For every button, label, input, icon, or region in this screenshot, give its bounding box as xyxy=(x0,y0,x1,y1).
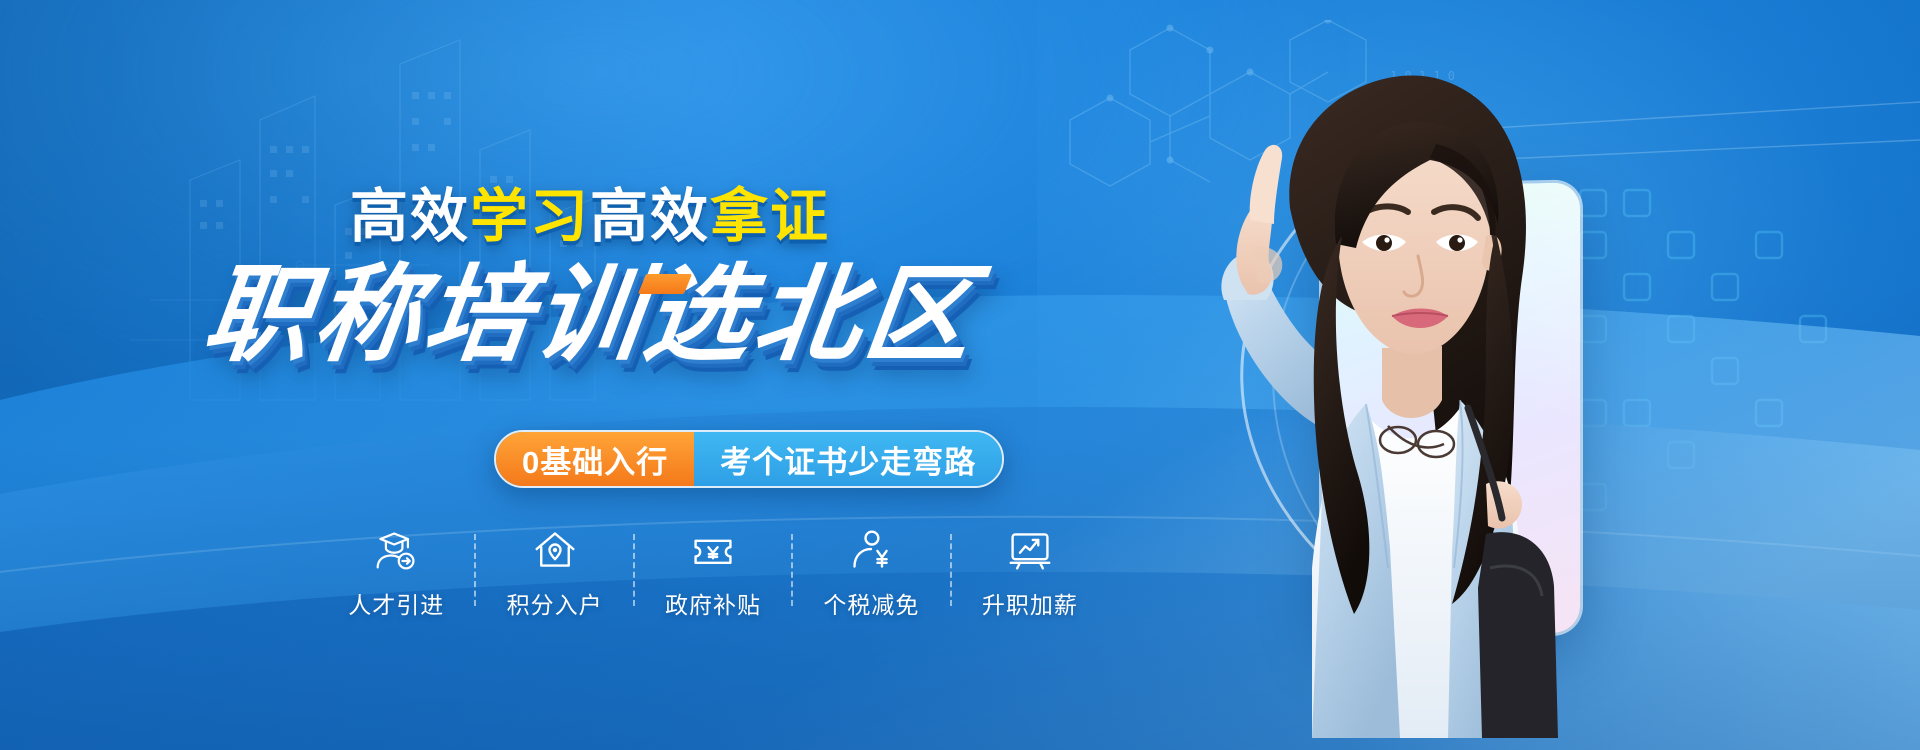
feature-label: 个税减免 xyxy=(823,586,919,620)
feature-item-talent-introduction[interactable]: 人才引进 xyxy=(318,528,474,620)
headline-char-6: 区 xyxy=(858,262,981,368)
growth-chart-board-icon xyxy=(1008,528,1052,572)
main-headline: 职称培训选北区 xyxy=(0,262,1180,368)
feature-label: 升职加薪 xyxy=(982,586,1078,620)
feature-item-points-residency[interactable]: 积分入户 xyxy=(476,528,632,620)
headline-char-1: 称 xyxy=(308,262,431,368)
subhead-seg-4: 拿证 xyxy=(710,184,830,249)
headline-char-3: 训 xyxy=(528,262,651,368)
voucher-yuan-icon xyxy=(691,528,735,572)
headline-char-2: 培 xyxy=(418,262,541,368)
feature-item-tax-reduction[interactable]: 个税减免 xyxy=(793,528,949,620)
tagline-pill-right[interactable]: 考个证书少走弯路 xyxy=(694,432,1002,486)
subhead-seg-1: 高效 xyxy=(350,184,470,249)
house-pin-icon xyxy=(533,528,577,572)
feature-item-government-subsidy[interactable]: 政府补贴 xyxy=(635,528,791,620)
sub-headline: 高效学习高效拿证 xyxy=(0,188,1180,246)
feature-label: 政府补贴 xyxy=(665,586,761,620)
content-block: 高效学习高效拿证 职称培训选北区 0基础入行 考个证书少走弯路 人才引进 xyxy=(0,0,1180,750)
tagline-pill[interactable]: 0基础入行 考个证书少走弯路 xyxy=(494,430,1004,488)
feature-label: 人才引进 xyxy=(348,586,444,620)
subhead-seg-2: 学习 xyxy=(470,184,590,249)
person-yuan-icon xyxy=(849,528,893,572)
person-photo xyxy=(1130,48,1650,738)
feature-list: 人才引进 积分入户 xyxy=(318,528,1108,638)
tagline-pill-left[interactable]: 0基础入行 xyxy=(496,432,694,486)
promo-banner: 1 0 1 1 0 0 1 0 0 1 1 1 0 1 0 xyxy=(0,0,1920,750)
headline-char-0: 职 xyxy=(198,262,321,368)
subhead-seg-3: 高效 xyxy=(590,184,710,249)
headline-orange-accent xyxy=(638,274,692,294)
feature-item-promotion-raise[interactable]: 升职加薪 xyxy=(952,528,1108,620)
graduate-person-icon xyxy=(374,528,418,572)
headline-char-5: 北 xyxy=(748,262,871,368)
feature-label: 积分入户 xyxy=(507,586,603,620)
